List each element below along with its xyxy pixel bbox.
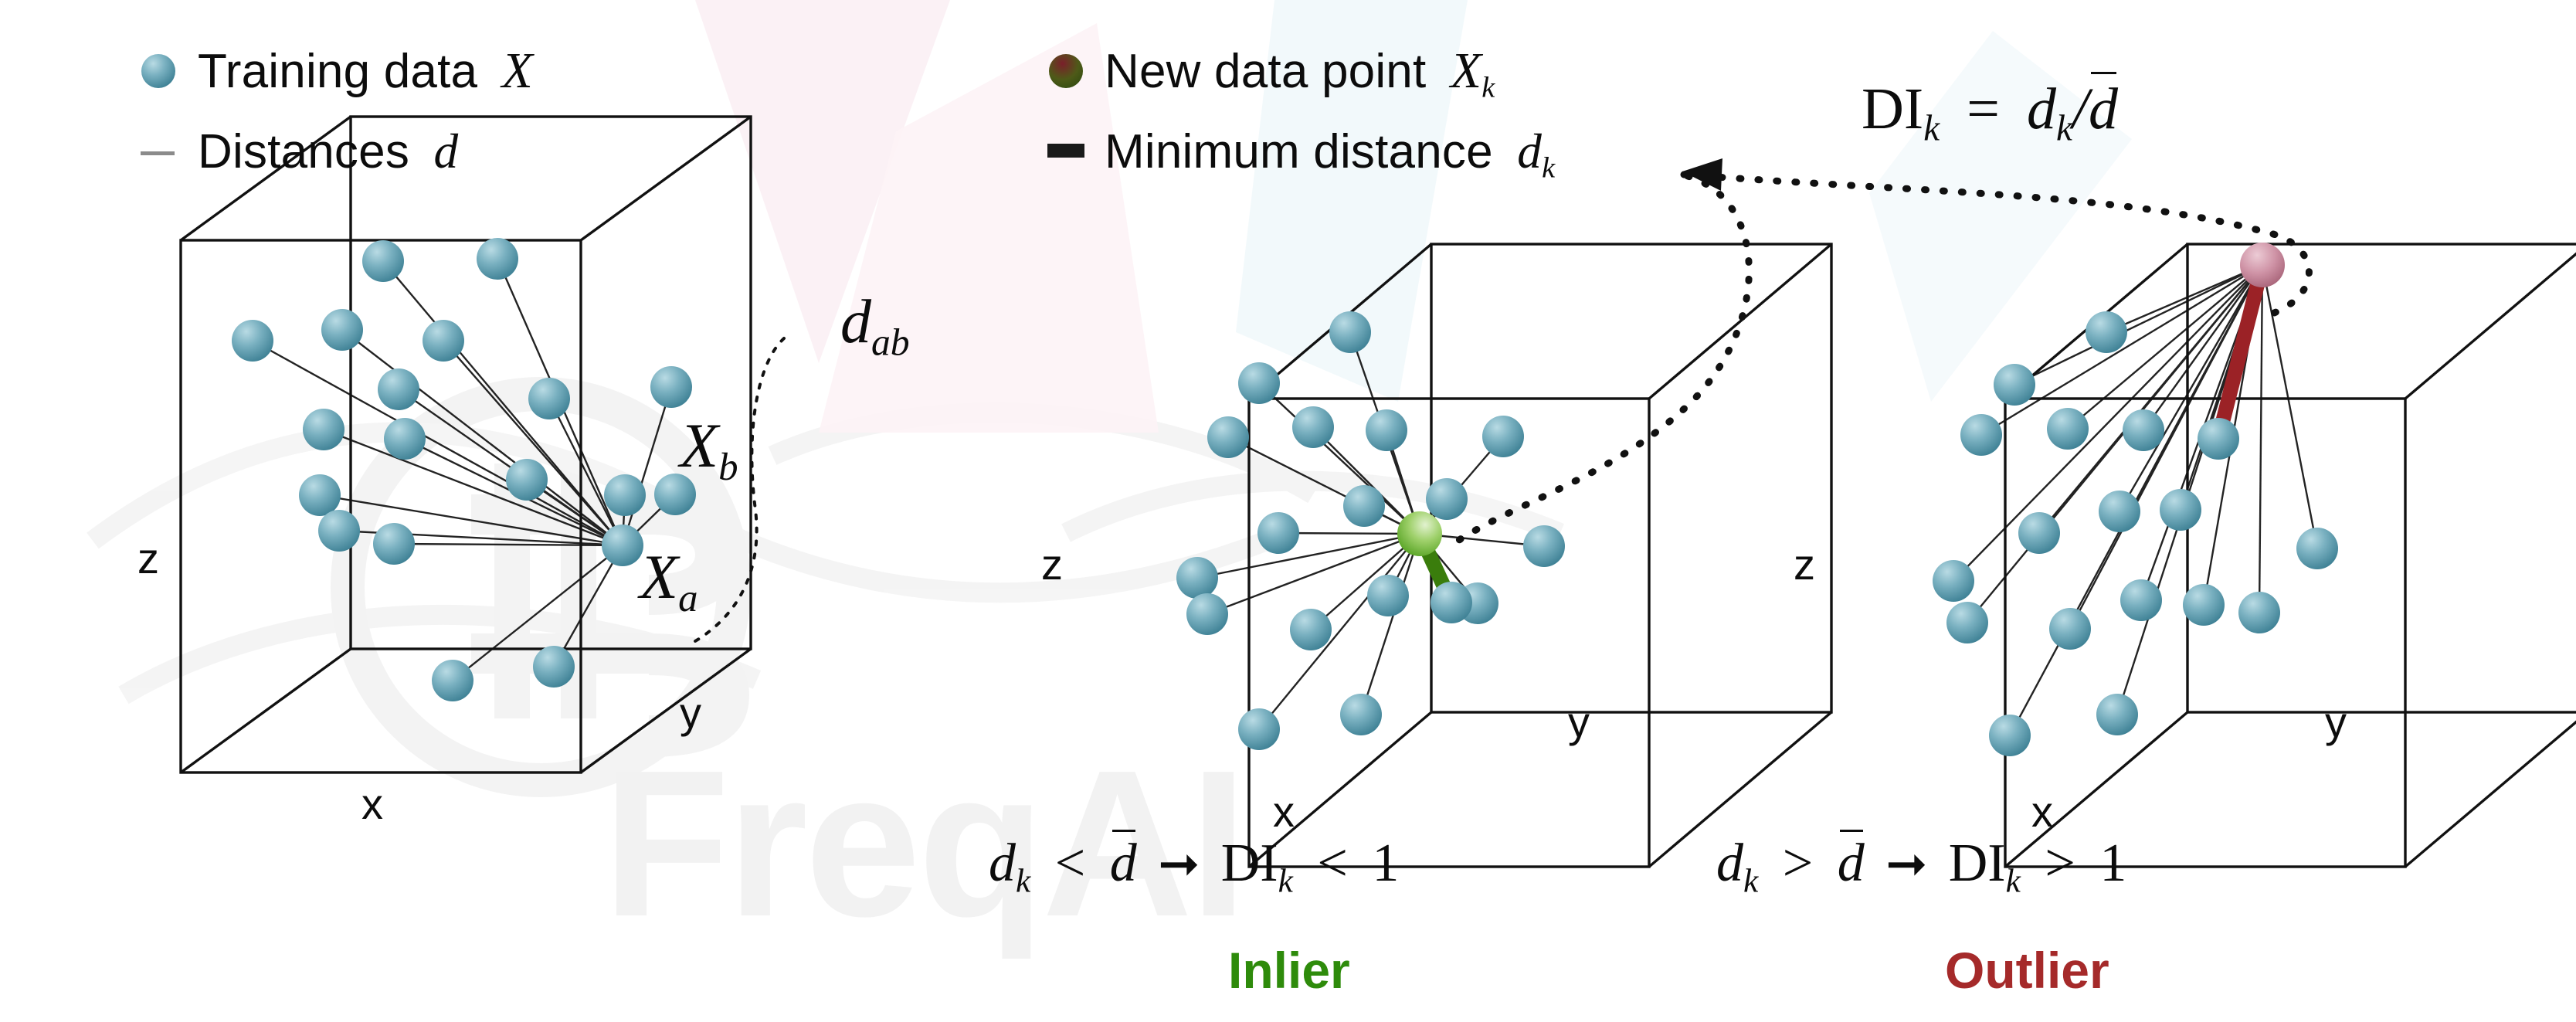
legend-symbol-dk: d [1506,124,1542,178]
inlier-arrow-icon: ➞ [1150,836,1207,891]
sphere-teal-icon [141,54,175,88]
inlier-rel2: < [1306,834,1358,893]
sphere-dark-icon [1049,54,1083,88]
inlier-value: 1 [1372,834,1399,893]
outlier-value: 1 [2099,834,2126,893]
inlier-di: DI [1221,834,1278,893]
legend-label-training-data: Training data [198,45,477,98]
caption-outlier: dk > d ➞ DIk > 1 [1716,833,2126,900]
dab-sub: ab [871,321,910,363]
inlier-dk: d [989,834,1016,893]
inlier-rel1: < [1044,834,1096,893]
legend-symbol-xk-sub: k [1481,72,1495,104]
legend-label-distances: Distances [198,125,409,178]
legend-symbol-dk-sub: k [1542,152,1555,185]
caption-inlier: dk < d ➞ DIk < 1 [989,833,1399,900]
di-equals: = [1954,76,2012,141]
dash-grey-icon [141,151,175,155]
legend-item-minimum-distance[interactable]: Minimum distance dk [1105,124,1555,185]
di-numerator-sub: k [2056,109,2072,149]
legend-symbol-d: d [423,124,458,178]
x-b-sub: b [718,445,738,488]
outlier-di-sub: k [2006,862,2021,899]
outlier-dbar: d [1838,834,1865,893]
inlier-dbar: d [1110,834,1137,893]
legend-label-new-data-point: New data point [1105,45,1426,98]
di-numerator: d [2027,76,2056,141]
x-b-base: X [680,410,718,480]
di-slash: / [2072,76,2089,141]
axis-label-z-cube1: z [137,533,159,583]
point-x-a [602,525,643,566]
di-lhs: DI [1862,76,1923,141]
outlier-dk-sub: k [1743,862,1758,899]
x-a-base: X [640,542,678,612]
axis-label-y-cube3: y [2325,697,2347,747]
axis-label-z-cube2: z [1041,539,1063,589]
outlier-arrow-icon: ➞ [1878,836,1935,891]
legend-item-new-data-point[interactable]: New data point Xk [1105,42,1495,105]
axis-label-x-cube3: x [2031,786,2053,837]
axis-label-y-cube1: y [680,688,701,738]
legend-label-minimum-distance: Minimum distance [1105,125,1493,178]
outlier-rel2: > [2034,834,2086,893]
outlier-rel1: > [1772,834,1824,893]
legend-item-distances[interactable]: Distances d [198,124,458,180]
axis-label-x-cube2: x [1273,786,1295,837]
legend-symbol-x: X [491,42,533,99]
point-new-inlier [1397,511,1442,556]
outlier-di: DI [1949,834,2006,893]
inlier-di-sub: k [1278,862,1293,899]
di-denominator: d [2089,76,2118,141]
axis-label-y-cube2: y [1568,697,1590,747]
x-a-sub: a [678,576,697,620]
dash-black-icon [1047,144,1084,158]
axis-label-z-cube3: z [1794,539,1815,589]
label-x-a: Xa [640,541,698,620]
label-x-b: Xb [680,409,738,489]
verdict-inlier: Inlier [1228,941,1350,1000]
verdict-outlier: Outlier [1945,941,2109,1000]
di-formula: DIk = dk/d [1862,76,2118,150]
dab-base: d [840,288,871,356]
figure-canvas: FreqAI [0,0,2576,1022]
inlier-dk-sub: k [1016,862,1030,899]
annotation-dab: dab [840,287,910,364]
legend-symbol-xk: X [1440,42,1481,99]
outlier-dk: d [1716,834,1743,893]
legend-item-training-data[interactable]: Training data X [198,42,533,100]
point-new-outlier [2240,243,2285,287]
axis-label-x-cube1: x [361,779,383,829]
di-lhs-sub: k [1923,109,1940,149]
